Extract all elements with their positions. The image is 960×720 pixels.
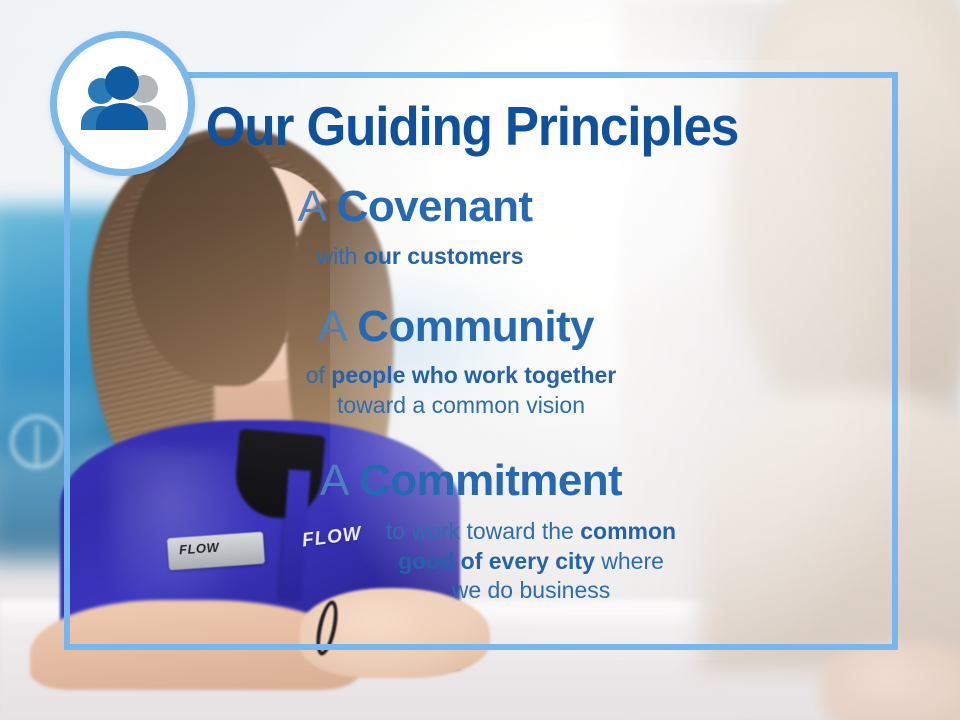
principle-covenant-article: A bbox=[298, 182, 337, 231]
principle-community-detail-plain: of bbox=[306, 362, 332, 388]
principle-covenant-detail-plain: with bbox=[316, 243, 363, 269]
principle-commitment-detail-plain1: to work toward the bbox=[386, 518, 580, 544]
principle-commitment-lead: A Commitment bbox=[64, 458, 884, 505]
copy-block: Our Guiding Principles A Covenant with o… bbox=[64, 72, 898, 650]
principle-covenant-detail: with our customers bbox=[64, 242, 884, 272]
principle-covenant-word: Covenant bbox=[337, 182, 533, 231]
principle-covenant-detail-bold: our customers bbox=[364, 243, 524, 269]
page-title: Our Guiding Principles bbox=[93, 94, 852, 158]
principle-commitment-detail-plain2: where bbox=[595, 548, 664, 574]
principle-commitment-detail-line1: to work toward the common bbox=[184, 517, 878, 547]
principle-commitment-detail: to work toward the common good of every … bbox=[64, 517, 884, 607]
principle-community-article: A bbox=[318, 302, 357, 351]
principle-community-detail: of people who work together toward a com… bbox=[64, 361, 884, 421]
principle-community: A Community of people who work together … bbox=[64, 304, 884, 420]
customer-hand bbox=[820, 640, 960, 720]
principle-community-lead: A Community bbox=[64, 304, 884, 351]
principle-commitment-article: A bbox=[320, 456, 359, 505]
principle-commitment-detail-bold2: good of every city bbox=[398, 548, 595, 574]
principle-commitment-detail-line2: good of every city where bbox=[184, 547, 878, 577]
guiding-principles-poster: FLOW FLOW Our Guidin bbox=[0, 0, 960, 720]
principle-community-word: Community bbox=[357, 302, 594, 351]
principle-commitment-detail-line3: we do business bbox=[184, 576, 878, 606]
principle-community-detail-line2: toward a common vision bbox=[64, 391, 858, 421]
principle-covenant-lead: A Covenant bbox=[64, 184, 884, 231]
principle-community-detail-line1: of people who work together bbox=[64, 361, 858, 391]
principle-commitment-word: Commitment bbox=[359, 456, 622, 505]
principle-commitment: A Commitment to work toward the common g… bbox=[64, 458, 884, 606]
principle-community-detail-bold: people who work together bbox=[331, 362, 616, 388]
principle-commitment-detail-bold1: common bbox=[580, 518, 676, 544]
principle-covenant: A Covenant with our customers bbox=[64, 184, 884, 272]
